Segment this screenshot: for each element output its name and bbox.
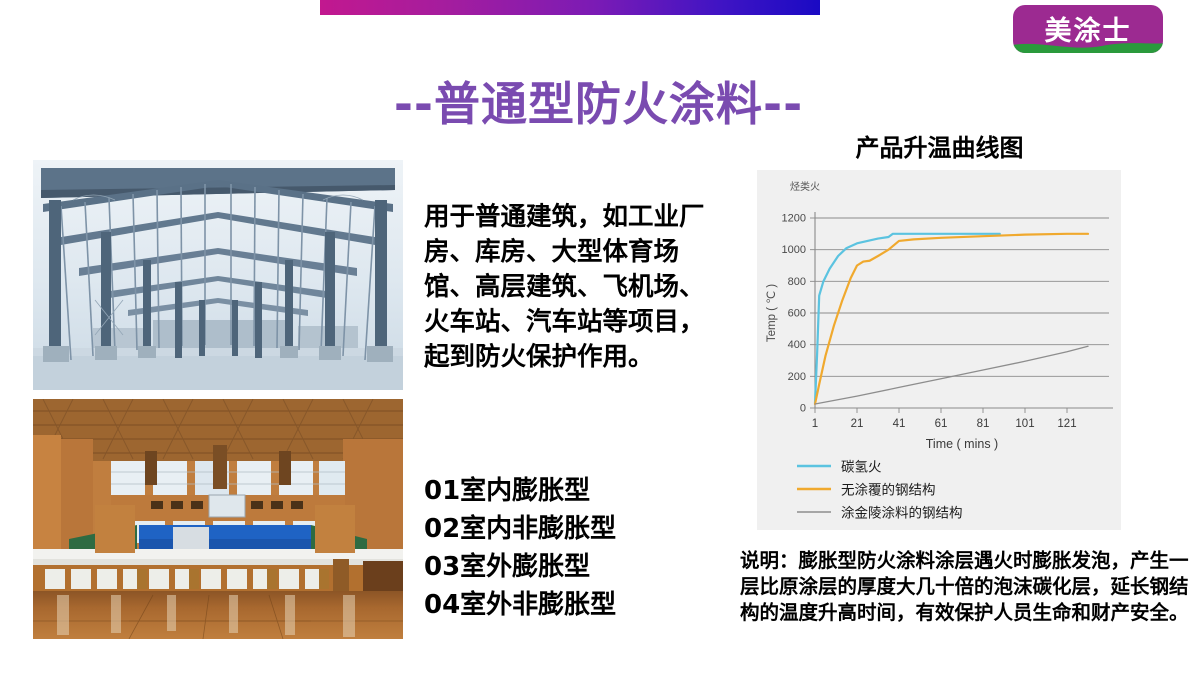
svg-text:800: 800 xyxy=(788,276,806,288)
svg-text:400: 400 xyxy=(788,339,806,351)
brand-logo: 美涂士 xyxy=(1013,5,1163,53)
svg-text:碳氢火: 碳氢火 xyxy=(841,460,882,476)
svg-text:涂金陵涂料的钢结构: 涂金陵涂料的钢结构 xyxy=(841,506,963,522)
svg-text:61: 61 xyxy=(935,418,948,430)
svg-text:121: 121 xyxy=(1057,418,1076,430)
list-item: 03室外膨胀型 xyxy=(424,548,724,586)
svg-text:41: 41 xyxy=(893,418,906,430)
photo-steel-frame-warehouse xyxy=(33,160,403,390)
svg-text:21: 21 xyxy=(851,418,864,430)
chart-svg: 020040060080010001200121416181101121Time… xyxy=(757,170,1121,530)
logo-wave-icon xyxy=(1013,37,1163,53)
svg-text:Temp ( ℃ ): Temp ( ℃ ) xyxy=(766,284,778,342)
svg-text:0: 0 xyxy=(800,403,806,415)
product-type-list: 01室内膨胀型 02室内非膨胀型 03室外膨胀型 04室外非膨胀型 xyxy=(424,472,724,624)
page-title: --普通型防火涂料-- xyxy=(0,68,1197,134)
explanatory-note: 说明：膨胀型防火涂料涂层遇火时膨胀发泡，产生一层比原涂层的厚度大几十倍的泡沫碳化… xyxy=(740,548,1197,626)
list-item: 02室内非膨胀型 xyxy=(424,510,724,548)
temperature-curve-chart: 烃类火 020040060080010001200121416181101121… xyxy=(757,170,1121,530)
top-gradient-bar xyxy=(320,0,820,15)
svg-text:1: 1 xyxy=(812,418,818,430)
svg-text:1000: 1000 xyxy=(782,244,806,256)
chart-title: 产品升温曲线图 xyxy=(757,128,1122,163)
svg-text:无涂覆的钢结构: 无涂覆的钢结构 xyxy=(841,483,936,499)
svg-text:101: 101 xyxy=(1015,418,1034,430)
svg-text:Time ( mins ): Time ( mins ) xyxy=(926,437,998,451)
body-copy: 用于普通建筑，如工业厂房、库房、大型体育场馆、高层建筑、飞机场、火车站、汽车站等… xyxy=(424,200,724,375)
svg-text:1200: 1200 xyxy=(782,213,806,225)
list-item: 01室内膨胀型 xyxy=(424,472,724,510)
svg-text:600: 600 xyxy=(788,308,806,320)
svg-text:81: 81 xyxy=(977,418,990,430)
photo-indoor-gymnasium xyxy=(33,399,403,639)
list-item: 04室外非膨胀型 xyxy=(424,586,724,624)
svg-text:200: 200 xyxy=(788,371,806,383)
